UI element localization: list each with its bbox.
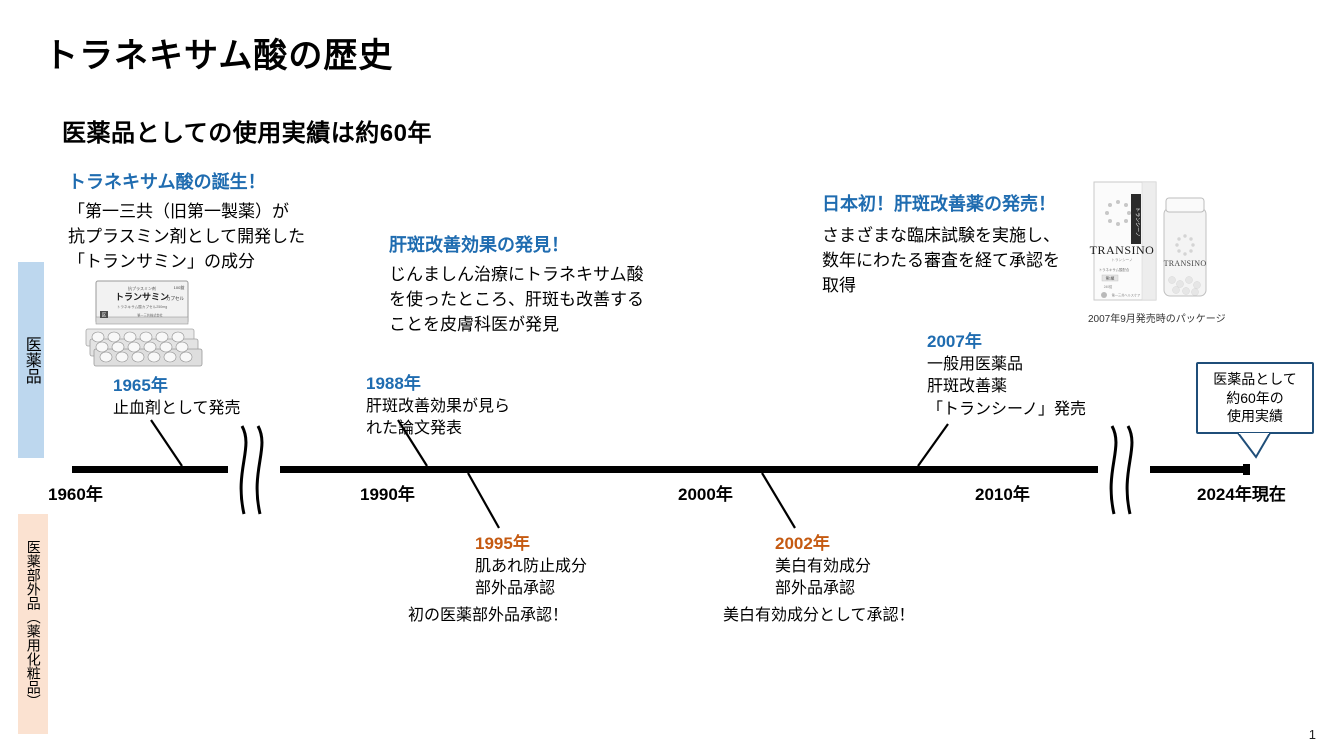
annotation-1988-year-block: 1988年 肝斑改善効果が見ら れた論文発表	[366, 372, 576, 441]
annotation-2007-headline: 日本初！肝斑改善薬の発売！	[822, 192, 1122, 216]
timeline-tick-2024: 2024年現在	[1197, 480, 1286, 505]
annotation-1965-year-block: 1965年 止血剤として発売	[113, 374, 313, 420]
svg-text:トラネキサム酸カプセル250mg: トラネキサム酸カプセル250mg	[117, 304, 167, 309]
annotation-1988-sub: 肝斑改善効果が見ら れた論文発表	[366, 396, 576, 441]
annotation-1965-year: 1965年	[113, 374, 313, 398]
annotation-2002-block: 2002年 美白有効成分 部外品承認	[775, 532, 1005, 601]
svg-text:トランサミン: トランサミン	[115, 292, 169, 302]
leader-line-1965	[151, 420, 182, 466]
page-subtitle: 医薬品としての使用実績は約60年	[62, 113, 432, 148]
annotation-2007-year: 2007年	[927, 330, 1127, 354]
page-title: トラネキサム酸の歴史	[44, 28, 393, 77]
annotation-2002-banner: 美白有効成分として承認！	[723, 601, 915, 625]
annotation-1995-year: 1995年	[475, 532, 705, 556]
annotation-2007-body: さまざまな臨床試験を実施し、 数年にわたる審査を経て承認を 取得	[822, 224, 1122, 298]
timeline-break-mark-1	[228, 424, 280, 516]
annotation-1988-year: 1988年	[366, 372, 576, 396]
svg-text:TRANSINO: TRANSINO	[1164, 259, 1207, 268]
slide-canvas: トラネキサム酸の歴史 医薬品としての使用実績は約60年 医薬品 医薬部外品（薬用…	[0, 0, 1344, 756]
annotation-1988-body: じんましん治療にトラネキサム酸 を使ったところ、肝斑も改善する ことを皮膚科医が…	[389, 263, 699, 337]
annotation-1988-headline: 肝斑改善効果の発見！	[389, 233, 699, 257]
leader-line-2002	[762, 473, 795, 528]
annotation-1995-block: 1995年 肌あれ防止成分 部外品承認	[475, 532, 705, 601]
annotation-2007-head-block: 日本初！肝斑改善薬の発売！ さまざまな臨床試験を実施し、 数年にわたる審査を経て…	[822, 192, 1122, 298]
timeline-tick-2010: 2010年	[975, 480, 1030, 505]
page-number: 1	[1309, 727, 1316, 742]
timeline-tick-2000: 2000年	[678, 480, 733, 505]
callout-60-years: 医薬品として 約60年の 使用実績	[1196, 362, 1314, 434]
photo-transino-caption: 2007年9月発売時のパッケージ	[1088, 310, 1226, 325]
callout-tail	[1236, 433, 1276, 459]
svg-text:100錠: 100錠	[174, 284, 185, 290]
annotation-2007-sub: 一般用医薬品 肝斑改善薬 「トランシーノ」発売	[927, 354, 1127, 421]
photo-transamin-package: 抗プラスミン剤 トランサミン カプセル トラネキサム酸カプセル250mg 区 第…	[78, 277, 206, 372]
annotation-2002-year: 2002年	[775, 532, 1005, 556]
svg-text:第一三共株式会社: 第一三共株式会社	[137, 313, 163, 318]
annotation-1965-head-block: トラネキサム酸の誕生！ 「第一三共（旧第一製薬）が 抗プラスミン剤として開発した…	[68, 170, 338, 274]
category-band-quasi-drug: 医薬部外品（薬用化粧品）	[18, 514, 48, 734]
annotation-1965-body: 「第一三共（旧第一製薬）が 抗プラスミン剤として開発した 「トランサミン」の成分	[68, 200, 338, 274]
svg-text:トランシーノ: トランシーノ	[1134, 207, 1140, 237]
leader-line-1995	[468, 473, 499, 528]
timeline-tick-1990: 1990年	[360, 480, 415, 505]
timeline-axis-end-cap	[1243, 464, 1250, 475]
transamin-photo-svg: 抗プラスミン剤 トランサミン カプセル トラネキサム酸カプセル250mg 区 第…	[78, 277, 206, 372]
annotation-1995-banner: 初の医薬部外品承認！	[408, 601, 568, 625]
category-band-drug: 医薬品	[18, 262, 44, 458]
annotation-1965-headline: トラネキサム酸の誕生！	[68, 170, 338, 194]
svg-text:区: 区	[102, 313, 107, 318]
annotation-1965-sub: 止血剤として発売	[113, 398, 313, 420]
svg-text:抗プラスミン剤: 抗プラスミン剤	[128, 285, 156, 291]
timeline-tick-1960: 1960年	[48, 480, 103, 505]
timeline-break-mark-2	[1098, 424, 1150, 516]
annotation-2002-sub: 美白有効成分 部外品承認	[775, 556, 1005, 601]
leader-line-2007	[918, 424, 948, 466]
annotation-1995-sub: 肌あれ防止成分 部外品承認	[475, 556, 705, 601]
annotation-2007-year-block: 2007年 一般用医薬品 肝斑改善薬 「トランシーノ」発売	[927, 330, 1127, 421]
annotation-1988-head-block: 肝斑改善効果の発見！ じんましん治療にトラネキサム酸 を使ったところ、肝斑も改善…	[389, 233, 699, 337]
